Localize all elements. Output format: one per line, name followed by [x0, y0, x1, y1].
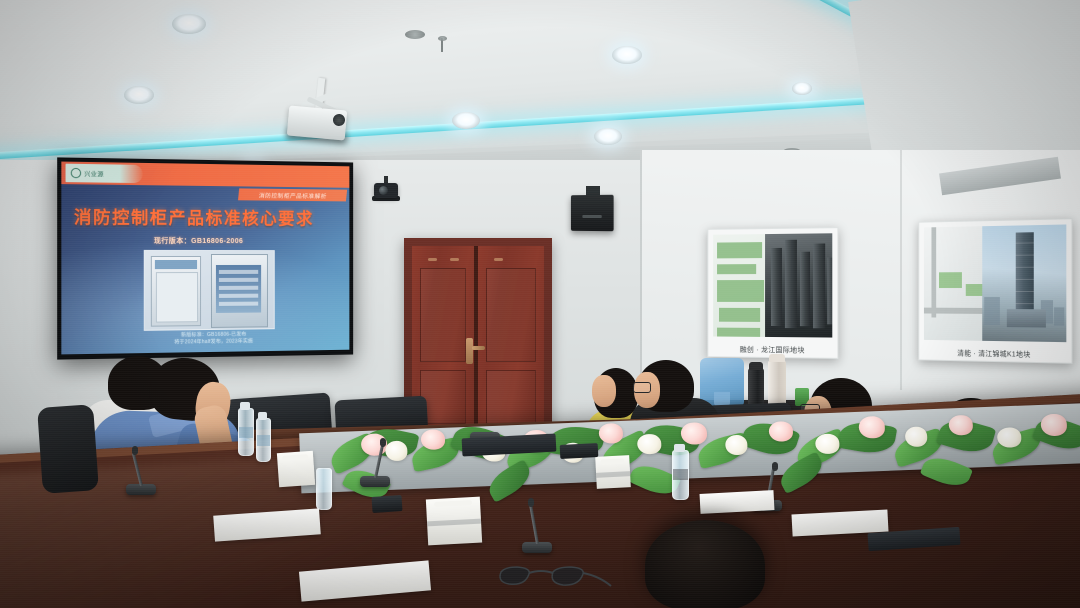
thermos-cap	[749, 362, 763, 370]
microphone-capsule-icon	[772, 462, 778, 471]
attendee-black-tee-glasses	[633, 382, 651, 393]
cabinet-a-header	[155, 260, 197, 269]
tissue-box	[426, 497, 482, 546]
wall-seam	[900, 150, 902, 390]
cabinet-b-panel	[216, 265, 261, 313]
eyeglasses-icon	[495, 560, 615, 594]
projection-screen: 兴业源 消防控制柜产品标准解析 消防控制柜产品标准核心要求 现行版本：GB168…	[61, 162, 349, 355]
tissue-box	[277, 451, 315, 487]
tissue-box	[595, 455, 631, 489]
microphone-capsule-icon	[528, 498, 534, 507]
tower-render-right	[982, 224, 1066, 342]
camera-lens-icon	[379, 186, 388, 195]
water-bottle	[672, 450, 689, 500]
control-cabinet-b	[211, 254, 268, 328]
document-sheet[interactable]	[700, 490, 775, 514]
logo-mark-icon	[71, 168, 81, 178]
tower-building	[1015, 232, 1034, 318]
desk-device	[371, 495, 402, 513]
desk-device	[560, 443, 599, 459]
downlight-icon	[612, 46, 642, 64]
panel-row	[219, 286, 258, 290]
control-cabinet-a	[151, 256, 201, 327]
downlight-icon	[172, 14, 206, 34]
downlight-icon	[124, 86, 154, 104]
slide-logo: 兴业源	[66, 164, 143, 183]
slide-title: 消防控制柜产品标准核心要求	[74, 203, 338, 230]
tissue-band	[427, 519, 481, 527]
sprinkler-icon	[438, 36, 447, 41]
microphone-capsule-icon	[132, 446, 138, 455]
bottle-cap	[258, 412, 267, 420]
sprinkler-icon	[405, 30, 425, 39]
bottle-label	[239, 427, 253, 438]
thermos-cap	[769, 354, 785, 362]
panel-row	[219, 278, 258, 282]
panel-row	[219, 302, 258, 306]
downlight-icon	[792, 82, 812, 95]
water-bottle	[256, 418, 271, 462]
wall-poster-right: 清能 · 清江锦城K1地块	[918, 218, 1072, 364]
slide-corner-tag: 消防控制柜产品标准解析	[238, 188, 347, 201]
tissue-sheet	[282, 454, 308, 461]
bottle-label	[257, 435, 270, 446]
bottle-cap	[674, 444, 685, 452]
water-bottle	[316, 468, 332, 510]
slide-subtitle: 现行版本：GB16806-2006	[154, 236, 243, 246]
foreground-person-head	[645, 520, 765, 608]
door-lever-icon[interactable]	[472, 346, 485, 350]
door-handle[interactable]	[466, 338, 473, 364]
slide-footnote: 新版标准：GB16806-已发布 将于2024年half发布，2023年实施	[123, 331, 301, 348]
wall-speaker	[571, 195, 614, 231]
panel-row	[219, 270, 258, 274]
bottle-label	[673, 469, 688, 480]
backpack	[37, 404, 99, 494]
microphone-capsule-icon	[380, 438, 386, 447]
slide-product-image	[144, 250, 275, 331]
cabinet-a-door	[156, 272, 198, 323]
poster-left-image	[713, 233, 832, 337]
eyeglasses-on-table[interactable]	[495, 560, 615, 594]
speaker-badge	[582, 215, 601, 218]
door-gap	[474, 246, 478, 432]
poster-right-caption: 清能 · 清江锦城K1地块	[919, 348, 1071, 361]
downlight-icon	[594, 128, 622, 145]
panel-row	[219, 294, 258, 298]
site-plan-right	[924, 226, 985, 341]
downlight-icon	[452, 112, 480, 129]
site-plan-left	[713, 234, 767, 337]
tissue-sheet	[600, 458, 625, 464]
water-bottle	[238, 408, 254, 456]
aerial-render-left	[765, 233, 832, 337]
poster-right-image	[924, 224, 1066, 342]
slide-logo-text: 兴业源	[84, 169, 104, 178]
projection-screen-frame: 兴业源 消防控制柜产品标准解析 消防控制柜产品标准核心要求 现行版本：GB168…	[57, 157, 353, 359]
wall-poster-left: 融创 · 龙江国际地块	[707, 227, 838, 359]
podium-building	[1007, 309, 1046, 328]
bottle-cap	[240, 402, 250, 410]
meeting-room-photo: 兴业源 消防控制柜产品标准解析 消防控制柜产品标准核心要求 现行版本：GB168…	[0, 0, 1080, 608]
tissue-sheet	[434, 500, 473, 507]
tissue-band	[596, 471, 630, 478]
door-leaf-right[interactable]	[478, 246, 544, 432]
attendee-yellow-face	[592, 375, 616, 407]
